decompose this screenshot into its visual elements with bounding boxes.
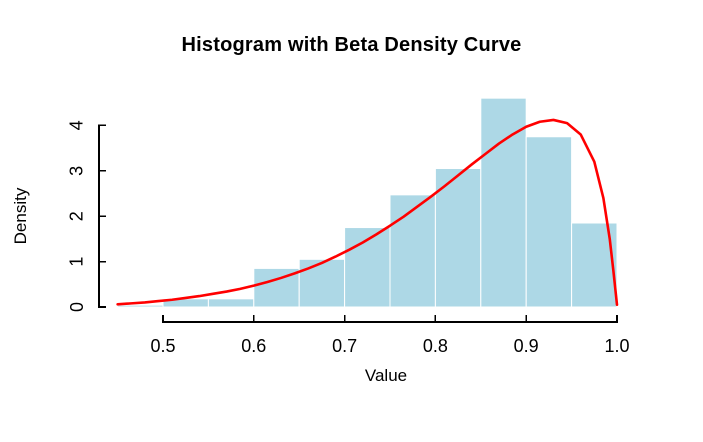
y-axis-tick-label: 2 (67, 211, 87, 221)
x-axis-tick-label: 0.5 (150, 336, 175, 356)
y-axis-line (99, 125, 106, 307)
x-axis-tick-label: 1.0 (604, 336, 629, 356)
y-axis-tick-label: 4 (67, 120, 87, 130)
x-axis-tick-labels: 0.50.60.70.80.91.0 (150, 336, 629, 356)
x-axis-line (163, 315, 617, 322)
plot-canvas: Histogram with Beta Density Curve 01234 … (0, 0, 703, 442)
x-axis (163, 315, 617, 322)
x-axis-tick-label: 0.9 (514, 336, 539, 356)
y-axis-tick-label: 1 (67, 257, 87, 267)
histogram-bar (118, 305, 163, 307)
x-axis-tick-label: 0.7 (332, 336, 357, 356)
histogram-bars (118, 98, 617, 307)
histogram-bar (208, 299, 253, 307)
y-axis-tick-labels: 01234 (67, 120, 87, 312)
histogram-bar (299, 259, 344, 307)
x-axis-tick-label: 0.8 (423, 336, 448, 356)
y-axis-tick-label: 3 (67, 166, 87, 176)
histogram-bar (390, 195, 435, 307)
x-axis-title: Value (365, 366, 407, 385)
y-axis-tick-label: 0 (67, 302, 87, 312)
histogram-bar (526, 137, 571, 307)
x-axis-tick-label: 0.6 (241, 336, 266, 356)
y-axis (99, 125, 106, 307)
y-axis-title: Density (11, 187, 30, 244)
histogram-chart: 01234 0.50.60.70.80.91.0 Value Density (0, 0, 703, 442)
